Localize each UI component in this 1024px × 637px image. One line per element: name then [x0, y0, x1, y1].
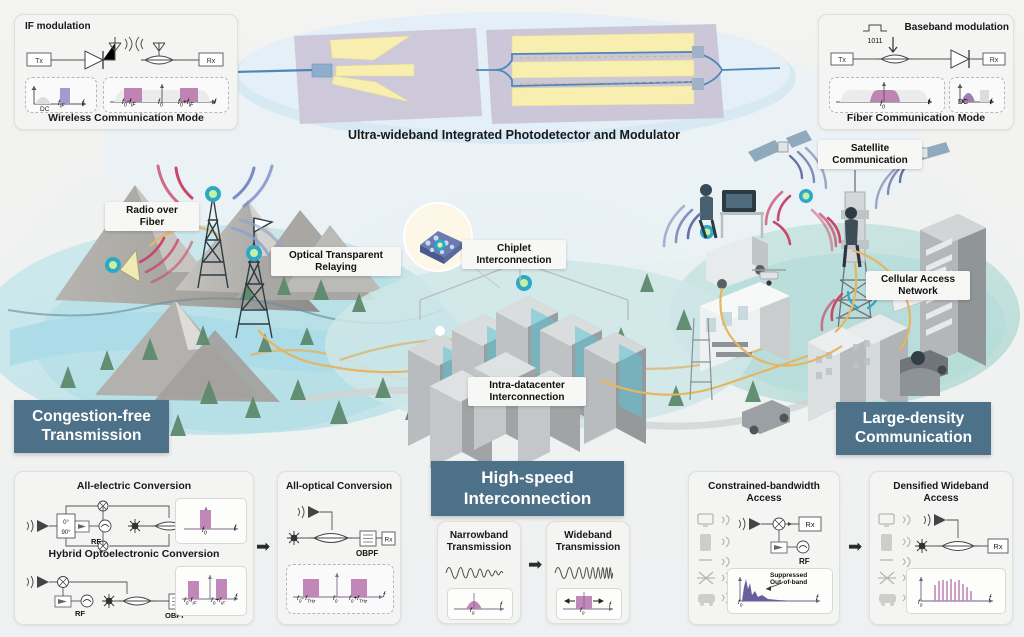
fiber-mode-panel: Baseband modulation 1011 Tx Rx — [818, 14, 1014, 130]
tick-f0-cb: f0 — [738, 599, 742, 607]
narrowband-card: NarrowbandTransmission f0 f — [437, 521, 521, 624]
spectrum-densified: f0 f — [906, 568, 1006, 614]
tick-f-cb: f — [816, 593, 818, 602]
spectrum-optical — [830, 78, 942, 110]
tick-f-ae: f — [234, 523, 236, 532]
tick-f-bb: f — [990, 97, 992, 106]
tick-f0-ao: f0 — [333, 595, 337, 603]
if-modulation-title: IF modulation — [25, 21, 145, 33]
tick-f0-ae: f0 — [202, 527, 207, 536]
tick-f: f — [82, 98, 84, 107]
tick-f0-wb: f0 — [580, 607, 584, 615]
densified-schematic: Rx — [914, 510, 1010, 566]
svg-text:1011: 1011 — [867, 38, 882, 45]
tick-dc: DC — [958, 99, 968, 106]
spectrum-rf-box: f0-fIF f0 f0+fIF f — [103, 77, 229, 113]
wireless-link-schematic: Tx Rx — [23, 35, 229, 79]
narrowband-waveform — [444, 560, 514, 586]
all-optical-schematic: Rx OBPF — [284, 498, 396, 560]
svg-text:Rx: Rx — [805, 520, 814, 529]
fiber-mode-footer: Fiber Communication Mode — [819, 112, 1013, 124]
banner-large-density-communication: Large-densityCommunication — [836, 402, 991, 455]
spectrum-all-optical: f0- fTHz f0 f0+fTHz f — [286, 564, 394, 614]
svg-text:Rx: Rx — [207, 58, 216, 65]
tick-f0-dw: f0 — [918, 599, 922, 607]
tick-f-nb: f — [500, 602, 502, 609]
wideband-title: WidebandTransmission — [547, 530, 629, 553]
label-cellular-access-network: Cellular AccessNetwork — [866, 271, 970, 300]
constrained-bandwidth-card: Constrained-bandwidthAccess — [688, 471, 840, 625]
spectrum-baseband-box: DC f — [949, 77, 1005, 113]
label-intra-datacenter-interconnection: Intra-datacenterInterconnection — [468, 377, 586, 406]
arrow-narrow-to-wide: ➡ — [528, 556, 542, 573]
spectrum-optical-box: f0 f — [829, 77, 945, 113]
banner-high-speed-interconnection: High-speedInterconnection — [431, 461, 624, 516]
label-satellite-communication: SatelliteCommunication — [818, 140, 922, 169]
tick-f0-minus: f0-fIF — [122, 99, 135, 108]
tick-f-opt: f — [928, 97, 930, 106]
arrow-to-all-optical: ➡ — [256, 538, 270, 555]
svg-text:RF: RF — [91, 537, 101, 546]
label-optical-transparent-relaying: Optical TransparentRelaying — [271, 247, 401, 276]
wideband-card: WidebandTransmission f0 f — [546, 521, 630, 624]
svg-text:Rx: Rx — [385, 537, 394, 544]
all-optical-title: All-optical Conversion — [278, 481, 400, 493]
constrained-schematic: Rx RF — [737, 510, 835, 566]
densified-wideband-card: Densified WidebandAccess — [869, 471, 1013, 625]
svg-text:Tx: Tx — [838, 57, 846, 64]
fiber-link-schematic: 1011 Tx Rx — [827, 21, 1009, 75]
tick-f-axis: f — [214, 97, 216, 106]
tick-f0-plus: f0+fIF — [178, 99, 193, 108]
svg-text:RF: RF — [799, 557, 810, 566]
spectrum-constrained: SuppressedOut-of-band f0 f — [727, 568, 833, 614]
tick-f-wb: f — [609, 602, 611, 609]
spectrum-all-optical-svg — [287, 565, 391, 611]
svg-text:90°: 90° — [61, 530, 71, 536]
constrained-title: Constrained-bandwidthAccess — [689, 481, 839, 504]
tick-f-dw: f — [989, 593, 991, 602]
tick-f0-plus-thz: f0+fTHz — [349, 595, 367, 603]
tick-f0-nb: f0 — [470, 607, 474, 615]
spectrum-all-electric-svg — [176, 499, 244, 541]
spectrum-if-box: DC fIF f — [25, 77, 97, 113]
tick-f0-minus-thz: f0- fTHz — [297, 595, 315, 603]
densified-title: Densified WidebandAccess — [870, 481, 1012, 504]
wireless-mode-panel: IF modulation Tx Rx — [14, 14, 238, 130]
annotation-suppressed-out-of-band: SuppressedOut-of-band — [770, 572, 807, 587]
arrow-to-densified: ➡ — [848, 538, 862, 555]
wideband-waveform — [553, 560, 623, 586]
spectrum-narrowband: f0 f — [447, 588, 513, 620]
chip-caption: Ultra-wideband Integrated Photodetector … — [288, 128, 740, 142]
tick-f-if: fIF — [58, 100, 64, 109]
tick-f-ao: f — [383, 590, 385, 599]
svg-text:RF: RF — [75, 609, 85, 618]
svg-text:Rx: Rx — [993, 542, 1002, 551]
svg-text:0°: 0° — [63, 520, 69, 526]
figure-canvas: Ultra-wideband Integrated Photodetector … — [0, 0, 1024, 637]
label-chiplet-interconnection: ChipletInterconnection — [462, 240, 566, 269]
narrowband-title: NarrowbandTransmission — [438, 530, 520, 553]
label-radio-over-fiber: Radio overFiber — [105, 202, 199, 231]
tick-f0-plus-h: f0+fIF — [211, 597, 225, 605]
banner-congestion-free-transmission: Congestion-freeTransmission — [14, 400, 169, 453]
wireless-mode-footer: Wireless Communication Mode — [15, 112, 237, 124]
spectrum-wideband: f0 f — [556, 588, 622, 620]
all-optical-card: All-optical Conversion Rx OBPF — [277, 471, 401, 625]
svg-text:Tx: Tx — [35, 58, 43, 65]
tick-f0-opt: f0 — [880, 99, 885, 111]
tick-f-h: f — [235, 592, 237, 601]
conversion-card: All-electric Conversion 0° 90° — [14, 471, 254, 625]
tick-f0-minus-h: f0-fIF — [184, 597, 196, 605]
tick-f0: f0 — [158, 99, 163, 108]
spectrum-all-electric: f0 f — [175, 498, 247, 544]
spectrum-hybrid-svg — [176, 567, 244, 613]
spectrum-hybrid: f0-fIF f0+fIF f — [175, 566, 247, 616]
svg-text:OBPF: OBPF — [356, 549, 378, 558]
hybrid-optoelectronic-title: Hybrid Optoelectronic Conversion — [15, 548, 253, 560]
all-electric-conversion-title: All-electric Conversion — [15, 480, 253, 492]
svg-text:Rx: Rx — [990, 57, 999, 64]
